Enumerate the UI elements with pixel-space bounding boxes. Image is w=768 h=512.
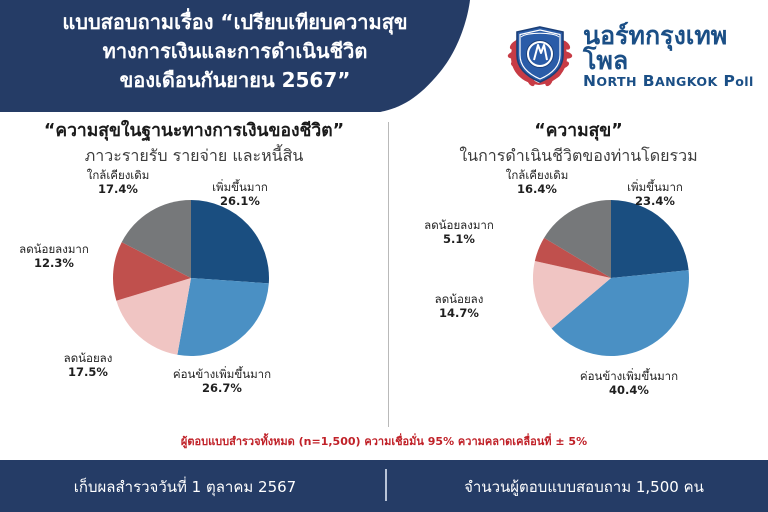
pie-slice-0 [611, 200, 689, 278]
left-pie-chart: ใกล้เคียงเดิม 17.4% เพิ่มขึ้นมาก 26.1% ล… [0, 167, 388, 417]
right-panel-title: “ความสุข” [389, 120, 768, 142]
page-title-line-1: แบบสอบถามเรื่อง “เปรียบเทียบความสุข [0, 8, 470, 37]
right-chart-panel: “ความสุข” ในการดำเนินชีวิตของท่านโดยรวม … [389, 112, 768, 430]
page-title: แบบสอบถามเรื่อง “เปรียบเทียบความสุข ทางก… [0, 8, 470, 95]
bottom-bar: เก็บผลสำรวจวันที่ 1 ตุลาคม 2567 จำนวนผู้… [0, 460, 768, 512]
left-label-decrease-much: ลดน้อยลงมาก 12.3% [0, 243, 114, 270]
right-label-increase-much: เพิ่มขึ้นมาก 23.4% [575, 181, 735, 208]
right-label-decrease-much: ลดน้อยลงมาก 5.1% [399, 219, 519, 246]
brand-logo-text: นอร์ทกรุงเทพโพล NORTH BANGKOK Poll [583, 23, 765, 90]
right-pie-slices [533, 200, 689, 356]
infographic-root: แบบสอบถามเรื่อง “เปรียบเทียบความสุข ทางก… [0, 0, 768, 512]
brand-logo: นอร์ทกรุงเทพโพล NORTH BANGKOK Poll [503, 18, 765, 94]
pie-slice-0 [191, 200, 269, 283]
bottom-bar-divider [385, 469, 387, 501]
right-label-decrease: ลดน้อยลง 14.7% [399, 293, 519, 320]
left-pie-slices [113, 200, 269, 356]
page-title-line-3: ของเดือนกันยายน 2567” [0, 66, 470, 95]
page-title-line-2: ทางการเงินและการดำเนินชีวิต [0, 37, 470, 66]
shield-emblem-icon [503, 19, 577, 93]
shield-emblem-svg [503, 19, 577, 93]
survey-date-text: เก็บผลสำรวจวันที่ 1 ตุลาคม 2567 [0, 475, 370, 499]
right-pie-chart: ใกล้เคียงเดิม 16.4% เพิ่มขึ้นมาก 23.4% ล… [389, 167, 768, 417]
left-panel-title: “ความสุขในฐานะทางการเงินของชีวิต” [0, 120, 388, 142]
right-label-increase-somewhat: ค่อนข้างเพิ่มขึ้นมาก 40.4% [539, 370, 719, 397]
left-label-increase-much: เพิ่มขึ้นมาก 26.1% [160, 181, 320, 208]
survey-footnote: ผู้ตอบแบบสำรวจทั้งหมด (n=1,500) ความเชื่… [0, 432, 768, 450]
left-panel-subtitle: ภาวะรายรับ รายจ่าย และหนี้สิน [0, 145, 388, 167]
brand-name-thai: นอร์ทกรุงเทพโพล [583, 23, 765, 73]
respondent-count-text: จำนวนผู้ตอบแบบสอบถาม 1,500 คน [400, 475, 768, 499]
pie-slice-1 [177, 278, 268, 356]
left-chart-panel: “ความสุขในฐานะทางการเงินของชีวิต” ภาวะรา… [0, 112, 388, 430]
left-label-increase-somewhat: ค่อนข้างเพิ่มขึ้นมาก 26.7% [132, 368, 312, 395]
right-panel-subtitle: ในการดำเนินชีวิตของท่านโดยรวม [389, 145, 768, 167]
left-label-decrease: ลดน้อยลง 17.5% [28, 352, 148, 379]
brand-name-english: NORTH BANGKOK Poll [583, 74, 765, 90]
